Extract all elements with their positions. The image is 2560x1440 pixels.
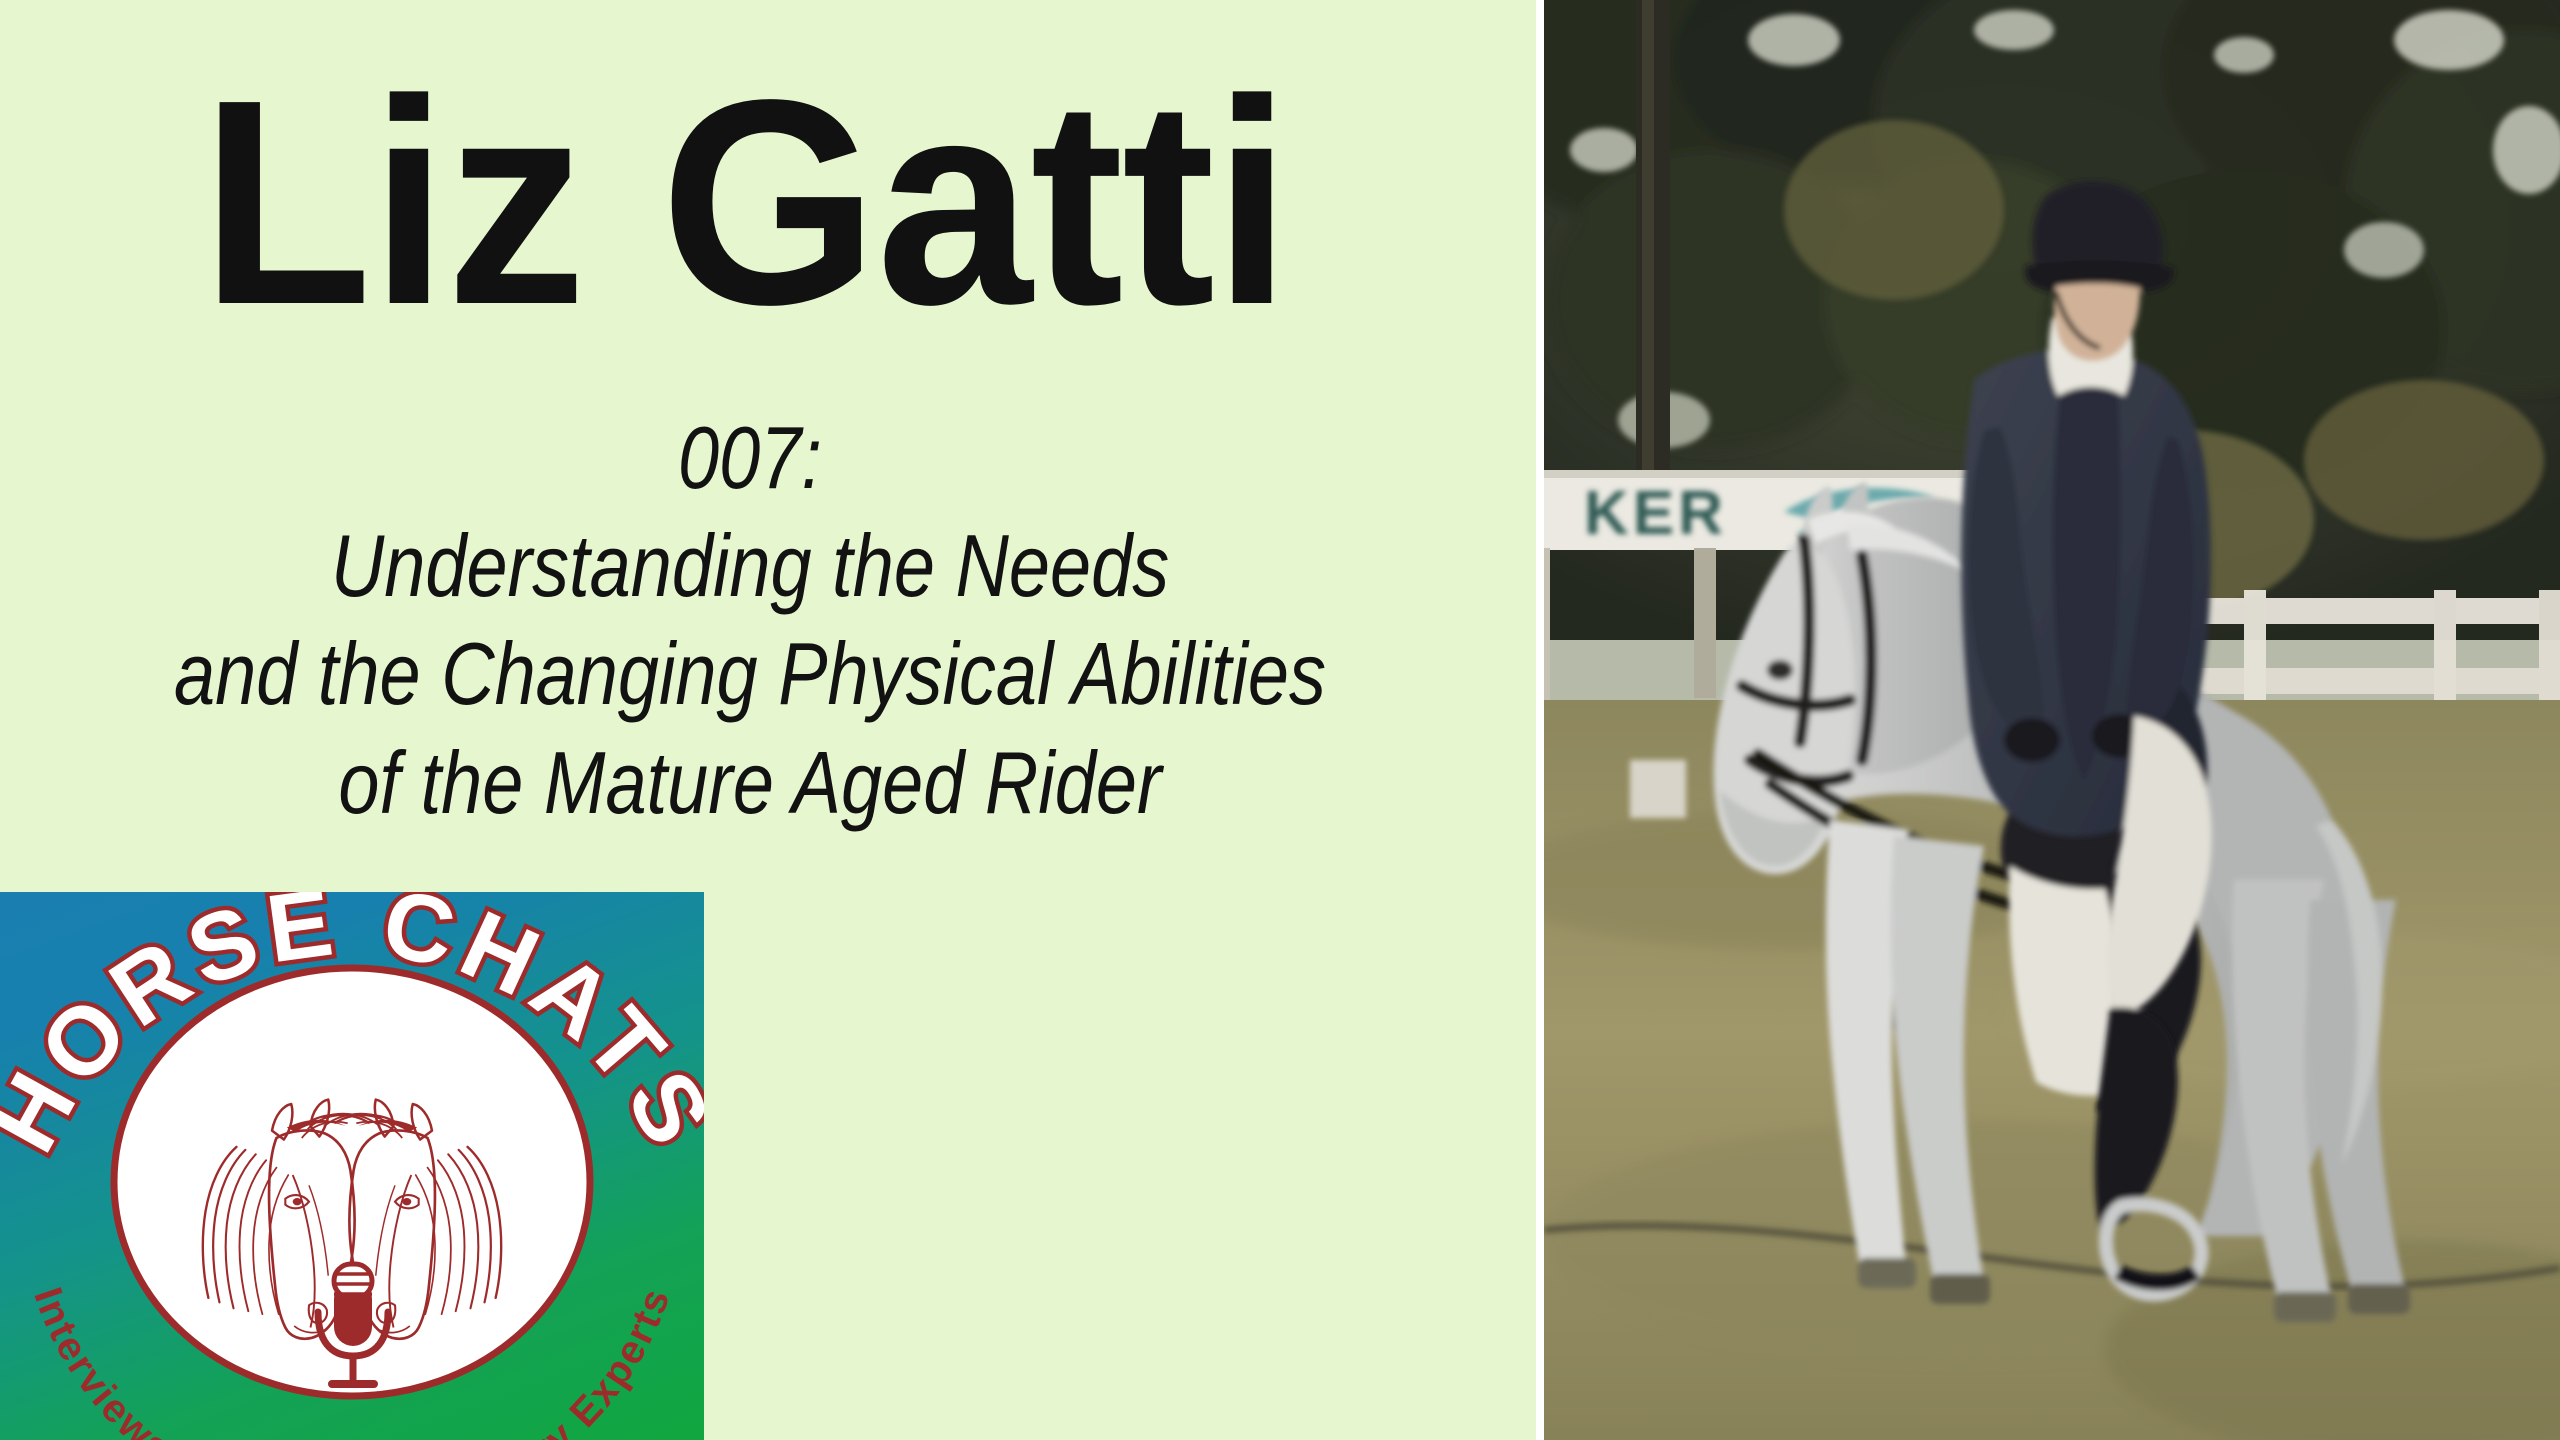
left-text-panel: Liz Gatti 007: Understanding the Needs a… — [0, 0, 1536, 1440]
episode-number-label: 007: — [120, 404, 1380, 512]
episode-subtitle-block: 007: Understanding the Needs and the Cha… — [120, 404, 1380, 837]
episode-title-line-2: and the Changing Physical Abilities — [120, 620, 1380, 728]
episode-cover-canvas: Liz Gatti 007: Understanding the Needs a… — [0, 0, 2560, 1440]
horse-chats-logo[interactable]: HORSE CHATS Interviews With Equine Indus… — [0, 892, 704, 1440]
guest-photo-frame: KER — [1536, 0, 2560, 1440]
guest-photo: KER — [1544, 0, 2560, 1440]
episode-title-line-1: Understanding the Needs — [120, 512, 1380, 620]
guest-name-heading: Liz Gatti — [30, 56, 1460, 348]
episode-title-line-3: of the Mature Aged Rider — [120, 729, 1380, 837]
